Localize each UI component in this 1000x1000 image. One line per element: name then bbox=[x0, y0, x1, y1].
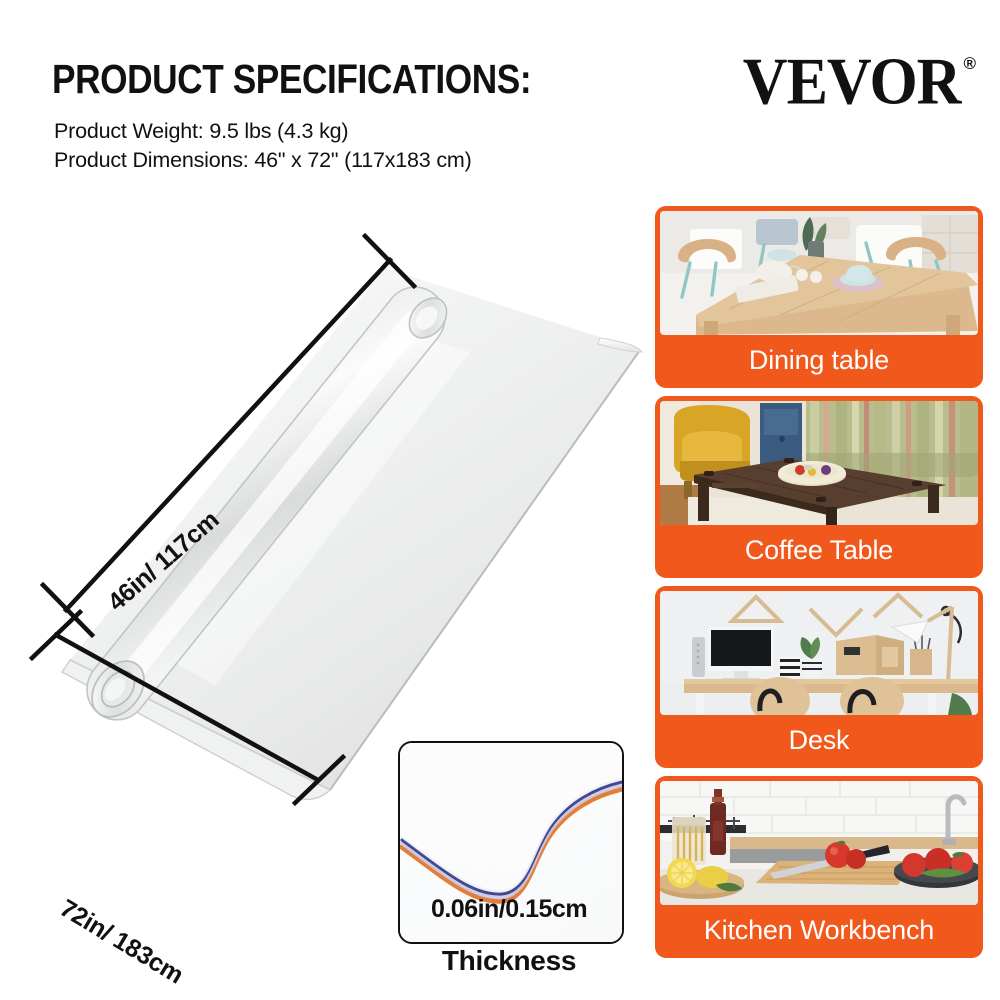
scene-photo-dining-table bbox=[660, 211, 978, 335]
scene-caption-coffee-table: Coffee Table bbox=[655, 525, 983, 578]
scene-photo-desk bbox=[660, 591, 978, 715]
scene-caption-desk: Desk bbox=[655, 715, 983, 768]
scene-photo-kitchen-workbench bbox=[660, 781, 978, 905]
page-title: PRODUCT SPECIFICATIONS: bbox=[52, 56, 531, 103]
spec-list: Product Weight: 9.5 lbs (4.3 kg) Product… bbox=[54, 117, 472, 175]
scene-card-dining-table[interactable]: Dining table bbox=[655, 206, 983, 388]
scene-card-coffee-table[interactable]: Coffee Table bbox=[655, 396, 983, 578]
registered-trademark-icon: ® bbox=[963, 54, 976, 74]
brand-logo: VEVOR ® bbox=[743, 52, 976, 109]
scene-card-kitchen-workbench[interactable]: Kitchen Workbench bbox=[655, 776, 983, 958]
thickness-value: 0.06in/0.15cm bbox=[398, 895, 620, 924]
scene-photo-coffee-table bbox=[660, 401, 978, 525]
dimension-label-length: 72in/ 183cm bbox=[55, 894, 189, 990]
scene-card-desk[interactable]: Desk bbox=[655, 586, 983, 768]
scene-card-list: Dining table bbox=[655, 206, 983, 966]
spec-line-weight: Product Weight: 9.5 lbs (4.3 kg) bbox=[54, 117, 472, 146]
brand-wordmark: VEVOR bbox=[743, 52, 961, 113]
scene-caption-kitchen-workbench: Kitchen Workbench bbox=[655, 905, 983, 958]
thickness-caption: Thickness bbox=[398, 945, 620, 977]
spec-line-dimensions: Product Dimensions: 46" x 72" (117x183 c… bbox=[54, 146, 472, 175]
scene-caption-dining-table: Dining table bbox=[655, 335, 983, 388]
